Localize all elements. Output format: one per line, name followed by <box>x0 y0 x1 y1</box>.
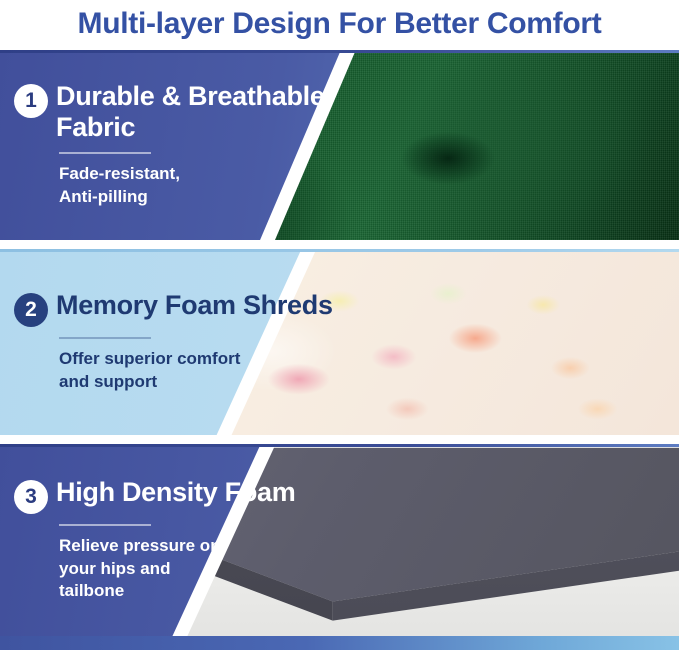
panel-1-subtext-line-1: Fade-resistant, <box>59 163 342 186</box>
panel-2-subtext-line-2: and support <box>59 371 342 394</box>
panel-2-subtext: Offer superior comfort and support <box>59 348 342 394</box>
panel-1-subtext-line-2: Anti-pilling <box>59 186 342 209</box>
panel-3-subtext: Relieve pressure on your hips and tailbo… <box>59 535 342 604</box>
infographic-title-bar: Multi-layer Design For Better Comfort <box>0 0 679 48</box>
panel-gap-1 <box>0 240 679 249</box>
panel-3-subtext-line-3: tailbone <box>59 580 342 603</box>
panel-3-heading-row: 3 High Density Foam <box>14 477 342 514</box>
panel-3-subtext-line-2: your hips and <box>59 558 342 581</box>
panel-2-content: 2 Memory Foam Shreds Offer superior comf… <box>12 249 342 435</box>
feature-panel-3: 3 High Density Foam Relieve pressure on … <box>0 444 679 636</box>
panel-1-heading: Durable & Breathable Fabric <box>56 81 342 141</box>
step-number-badge-2: 2 <box>14 293 48 327</box>
panel-3-content: 3 High Density Foam Relieve pressure on … <box>12 444 342 636</box>
panel-1-heading-row: 1 Durable & Breathable Fabric <box>14 81 342 141</box>
step-number-badge-1: 1 <box>14 84 48 118</box>
panel-2-heading: Memory Foam Shreds <box>56 290 333 320</box>
panel-1-divider <box>59 152 151 154</box>
panel-1-content: 1 Durable & Breathable Fabric Fade-resis… <box>12 50 342 240</box>
bottom-accent-strip <box>0 636 679 650</box>
panel-2-heading-row: 2 Memory Foam Shreds <box>14 290 342 327</box>
panel-1-subtext: Fade-resistant, Anti-pilling <box>59 163 342 209</box>
page-title: Multi-layer Design For Better Comfort <box>78 7 602 41</box>
panel-gap-2 <box>0 435 679 444</box>
panel-3-heading: High Density Foam <box>56 477 295 507</box>
product-infographic: Multi-layer Design For Better Comfort 1 … <box>0 0 679 650</box>
feature-panel-2: 2 Memory Foam Shreds Offer superior comf… <box>0 249 679 435</box>
step-number-badge-3: 3 <box>14 480 48 514</box>
panel-3-subtext-line-1: Relieve pressure on <box>59 535 342 558</box>
panel-2-divider <box>59 337 151 339</box>
panel-2-subtext-line-1: Offer superior comfort <box>59 348 342 371</box>
feature-panel-1: 1 Durable & Breathable Fabric Fade-resis… <box>0 50 679 240</box>
panel-3-divider <box>59 524 151 526</box>
